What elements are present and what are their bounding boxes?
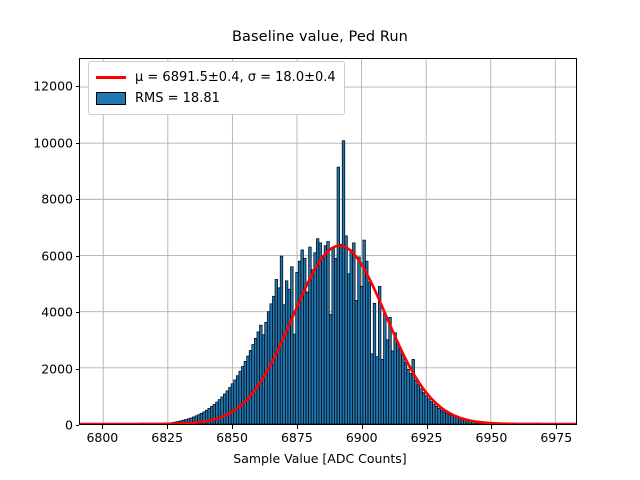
x-tick-mark: [491, 425, 492, 429]
y-tick-label: 10000: [9, 135, 73, 150]
y-tick-label: 6000: [9, 248, 73, 263]
x-tick-mark: [232, 425, 233, 429]
x-tick-mark: [102, 425, 103, 429]
fit-line-swatch-icon: [96, 76, 126, 79]
legend-item-fit: μ = 6891.5±0.4, σ = 18.0±0.4: [96, 67, 336, 88]
chart-figure: Baseline value, Ped Run 0200040006000800…: [0, 0, 640, 480]
y-tick-label: 0: [9, 418, 73, 433]
y-tick-label: 2000: [9, 361, 73, 376]
x-tick-label: 6875: [267, 430, 327, 445]
x-tick-label: 6975: [526, 430, 586, 445]
x-tick-label: 6900: [332, 430, 392, 445]
legend-label-fit: μ = 6891.5±0.4, σ = 18.0±0.4: [135, 70, 336, 85]
x-tick-label: 6825: [137, 430, 197, 445]
x-tick-mark: [362, 425, 363, 429]
x-tick-label: 6925: [397, 430, 457, 445]
x-tick-mark: [556, 425, 557, 429]
x-tick-mark: [427, 425, 428, 429]
y-tick-label: 12000: [9, 79, 73, 94]
y-tick-label: 8000: [9, 192, 73, 207]
x-tick-mark: [167, 425, 168, 429]
legend-item-rms: RMS = 18.81: [96, 88, 336, 109]
chart-title: Baseline value, Ped Run: [0, 29, 640, 45]
x-tick-label: 6950: [461, 430, 521, 445]
y-tick-mark: [76, 425, 80, 426]
histogram-swatch-icon: [96, 92, 126, 105]
x-axis-label: Sample Value [ADC Counts]: [0, 451, 640, 466]
x-tick-mark: [297, 425, 298, 429]
chart-legend: μ = 6891.5±0.4, σ = 18.0±0.4 RMS = 18.81: [88, 61, 345, 115]
y-axis-label: Events: [0, 199, 3, 241]
x-tick-label: 6850: [202, 430, 262, 445]
y-tick-label: 4000: [9, 305, 73, 320]
x-tick-label: 6800: [72, 430, 132, 445]
histogram-bars: [169, 141, 492, 424]
legend-label-rms: RMS = 18.81: [135, 91, 220, 106]
